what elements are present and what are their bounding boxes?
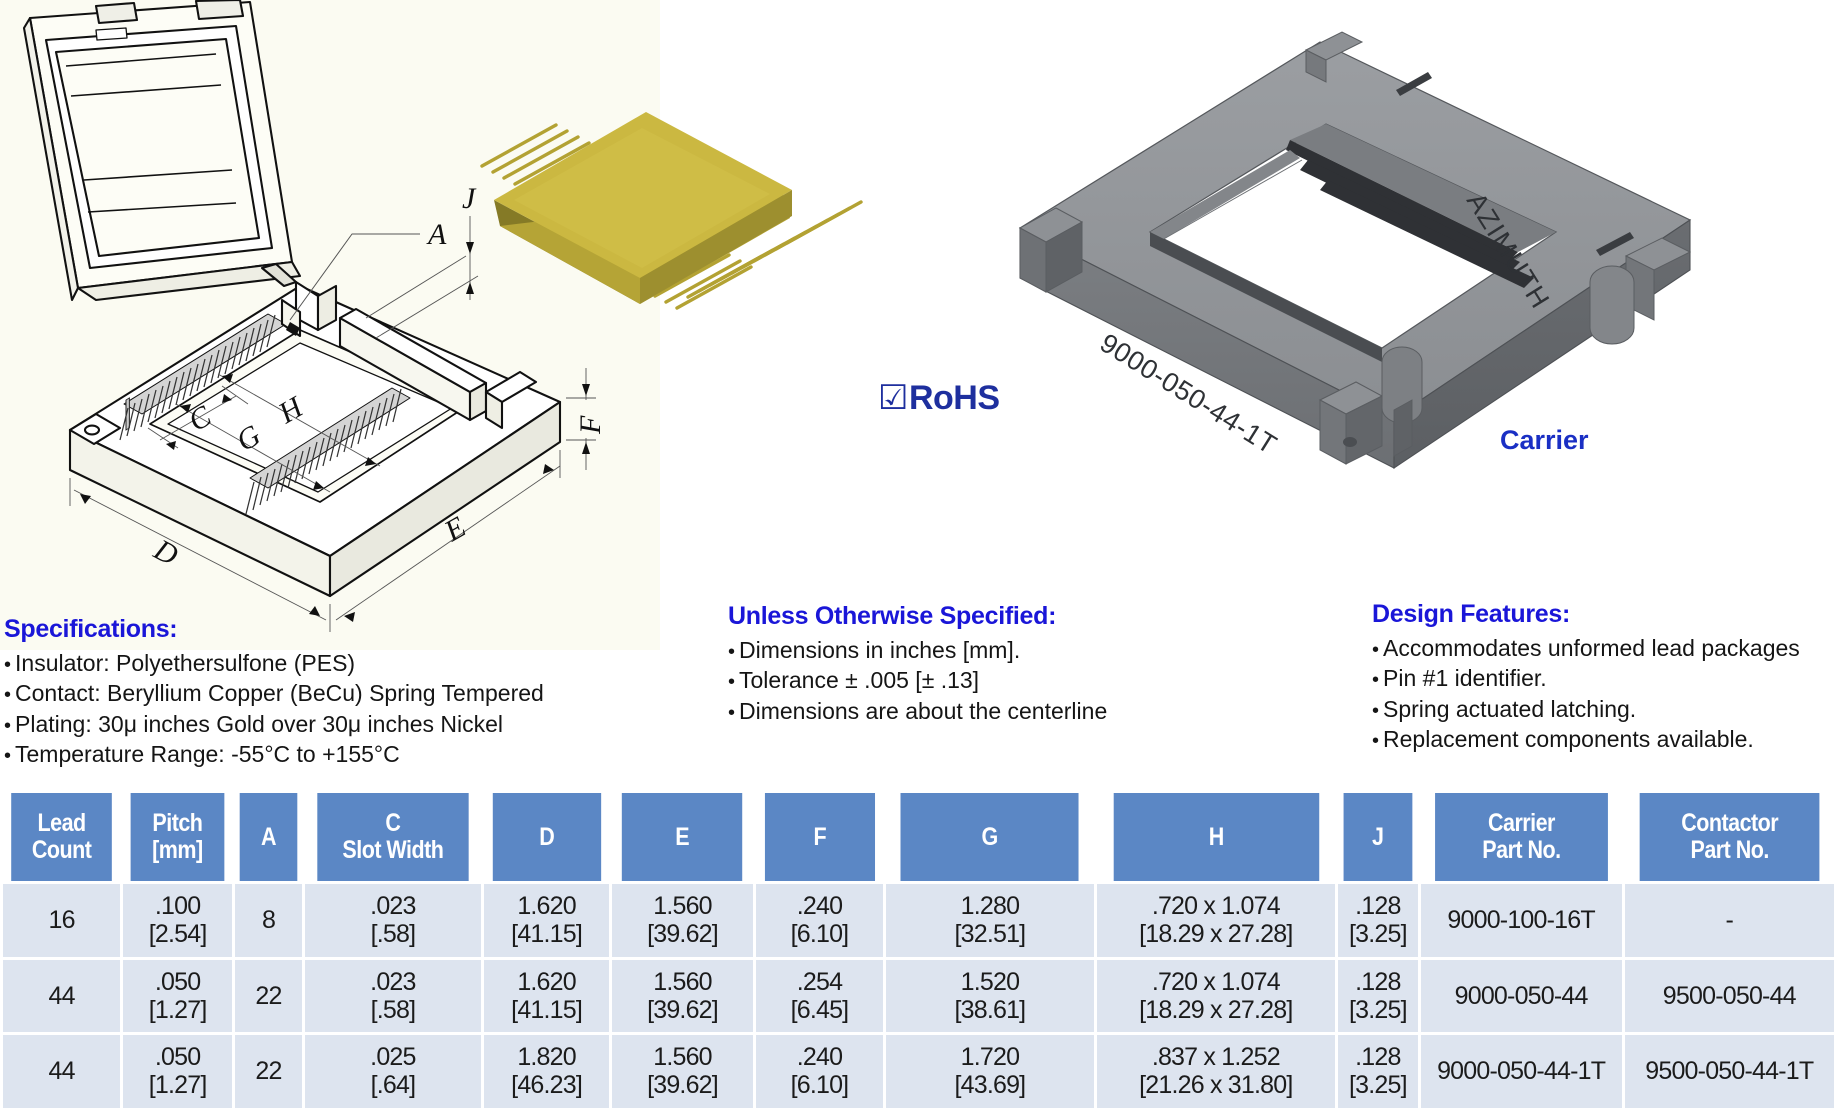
cell-e: 1.560 [39.62] — [612, 960, 752, 1033]
col-header-g: G — [901, 793, 1079, 881]
carrier-caption: Carrier — [1500, 425, 1589, 456]
col-header-d: D — [493, 793, 601, 881]
unless-otherwise-specified-block: Unless Otherwise Specified: Dimensions i… — [728, 602, 1107, 726]
cell-f: .254 [6.45] — [756, 960, 884, 1033]
cell-g: 1.520 [38.61] — [886, 960, 1093, 1033]
cell-f: .240 [6.10] — [756, 884, 884, 957]
table-header: Lead Count Pitch [mm] A C Slot Width D E… — [3, 793, 1834, 881]
feature-item-pin1-identifier: Pin #1 identifier. — [1372, 663, 1800, 693]
col-header-pitch: Pitch [mm] — [131, 793, 225, 881]
cell-a: 22 — [235, 1035, 302, 1108]
spec-item-insulator: Insulator: Polyethersulfone (PES) — [4, 648, 544, 678]
cell-j: .128 [3.25] — [1338, 884, 1418, 957]
rohs-badge: ☑RoHS — [878, 378, 1000, 418]
cell-pitch: .050 [1.27] — [123, 1035, 232, 1108]
col-header-j: J — [1344, 793, 1412, 881]
carrier-3d-render: AZIMUTH 9000-050-44-1T — [990, 10, 1730, 470]
rohs-label: RoHS — [909, 379, 1000, 417]
col-header-e: E — [622, 793, 743, 881]
feature-item-replacement-components: Replacement components available. — [1372, 724, 1800, 754]
unless-otherwise-specified-title: Unless Otherwise Specified: — [728, 602, 1107, 631]
specifications-block: Specifications: Insulator: Polyethersulf… — [4, 615, 544, 770]
cell-c: .023 [.58] — [305, 960, 481, 1033]
cell-contactor-part-no: 9500-050-44 — [1625, 960, 1834, 1033]
gold-ic-package — [470, 50, 870, 320]
uos-item-dimensions-units: Dimensions in inches [mm]. — [728, 635, 1107, 665]
dim-label-E: E — [438, 510, 471, 548]
cell-a: 22 — [235, 960, 302, 1033]
dim-label-D: D — [148, 533, 184, 573]
cell-carrier-part-no: 9000-050-44 — [1421, 960, 1622, 1033]
unless-otherwise-specified-list: Dimensions in inches [mm]. Tolerance ± .… — [728, 635, 1107, 726]
datasheet-page: A J C G H D E F — [0, 0, 1837, 1115]
cell-pitch: .100 [2.54] — [123, 884, 232, 957]
feature-item-spring-latching: Spring actuated latching. — [1372, 694, 1800, 724]
cell-e: 1.560 [39.62] — [612, 1035, 752, 1108]
uos-item-centerline: Dimensions are about the centerline — [728, 696, 1107, 726]
col-header-h: H — [1113, 793, 1318, 881]
dimensions-table: Lead Count Pitch [mm] A C Slot Width D E… — [0, 790, 1837, 1111]
cell-d: 1.620 [41.15] — [484, 884, 610, 957]
cell-carrier-part-no: 9000-100-16T — [1421, 884, 1622, 957]
design-features-block: Design Features: Accommodates unformed l… — [1372, 600, 1800, 755]
dim-label-A: A — [426, 218, 447, 251]
table-row: 16 .100 [2.54] 8 .023 [.58] 1.620 [41.15… — [3, 884, 1834, 957]
design-features-title: Design Features: — [1372, 600, 1800, 629]
cell-lead-count: 16 — [3, 884, 120, 957]
cell-h: .720 x 1.074 [18.29 x 27.28] — [1097, 884, 1336, 957]
cell-contactor-part-no: 9500-050-44-1T — [1625, 1035, 1834, 1108]
col-header-carrier-part-no: Carrier Part No. — [1435, 793, 1608, 881]
col-header-lead-count: Lead Count — [11, 793, 112, 881]
table-row: 44 .050 [1.27] 22 .025 [.64] 1.820 [46.2… — [3, 1035, 1834, 1108]
cell-f: .240 [6.10] — [756, 1035, 884, 1108]
spec-item-temperature-range: Temperature Range: -55°C to +155°C — [4, 739, 544, 769]
cell-c: .023 [.58] — [305, 884, 481, 957]
cell-h: .837 x 1.252 [21.26 x 31.80] — [1097, 1035, 1336, 1108]
col-header-a: A — [240, 793, 298, 881]
spec-item-plating: Plating: 30μ inches Gold over 30μ inches… — [4, 709, 544, 739]
uos-item-tolerance: Tolerance ± .005 [± .13] — [728, 665, 1107, 695]
specifications-list: Insulator: Polyethersulfone (PES) Contac… — [4, 648, 544, 770]
table-header-row: Lead Count Pitch [mm] A C Slot Width D E… — [3, 793, 1834, 881]
design-features-list: Accommodates unformed lead packages Pin … — [1372, 633, 1800, 755]
feature-item-unformed-leads: Accommodates unformed lead packages — [1372, 633, 1800, 663]
cell-pitch: .050 [1.27] — [123, 960, 232, 1033]
cell-contactor-part-no: - — [1625, 884, 1834, 957]
cell-j: .128 [3.25] — [1338, 1035, 1418, 1108]
cell-d: 1.820 [46.23] — [484, 1035, 610, 1108]
cell-lead-count: 44 — [3, 1035, 120, 1108]
checkbox-checked-icon: ☑ — [878, 379, 908, 417]
spec-item-contact: Contact: Beryllium Copper (BeCu) Spring … — [4, 678, 544, 708]
cell-d: 1.620 [41.15] — [484, 960, 610, 1033]
cell-h: .720 x 1.074 [18.29 x 27.28] — [1097, 960, 1336, 1033]
cell-e: 1.560 [39.62] — [612, 884, 752, 957]
cell-g: 1.720 [43.69] — [886, 1035, 1093, 1108]
table-body: 16 .100 [2.54] 8 .023 [.58] 1.620 [41.15… — [3, 884, 1834, 1108]
cell-carrier-part-no: 9000-050-44-1T — [1421, 1035, 1622, 1108]
col-header-contactor-part-no: Contactor Part No. — [1639, 793, 1819, 881]
col-header-f: F — [765, 793, 875, 881]
cell-lead-count: 44 — [3, 960, 120, 1033]
cell-c: .025 [.64] — [305, 1035, 481, 1108]
col-header-c-slot-width: C Slot Width — [317, 793, 468, 881]
cell-g: 1.280 [32.51] — [886, 884, 1093, 957]
table-row: 44 .050 [1.27] 22 .023 [.58] 1.620 [41.1… — [3, 960, 1834, 1033]
illustration-zone: A J C G H D E F — [0, 0, 1837, 650]
dim-label-F: F — [574, 415, 607, 435]
cell-a: 8 — [235, 884, 302, 957]
specifications-title: Specifications: — [4, 615, 544, 644]
cell-j: .128 [3.25] — [1338, 960, 1418, 1033]
